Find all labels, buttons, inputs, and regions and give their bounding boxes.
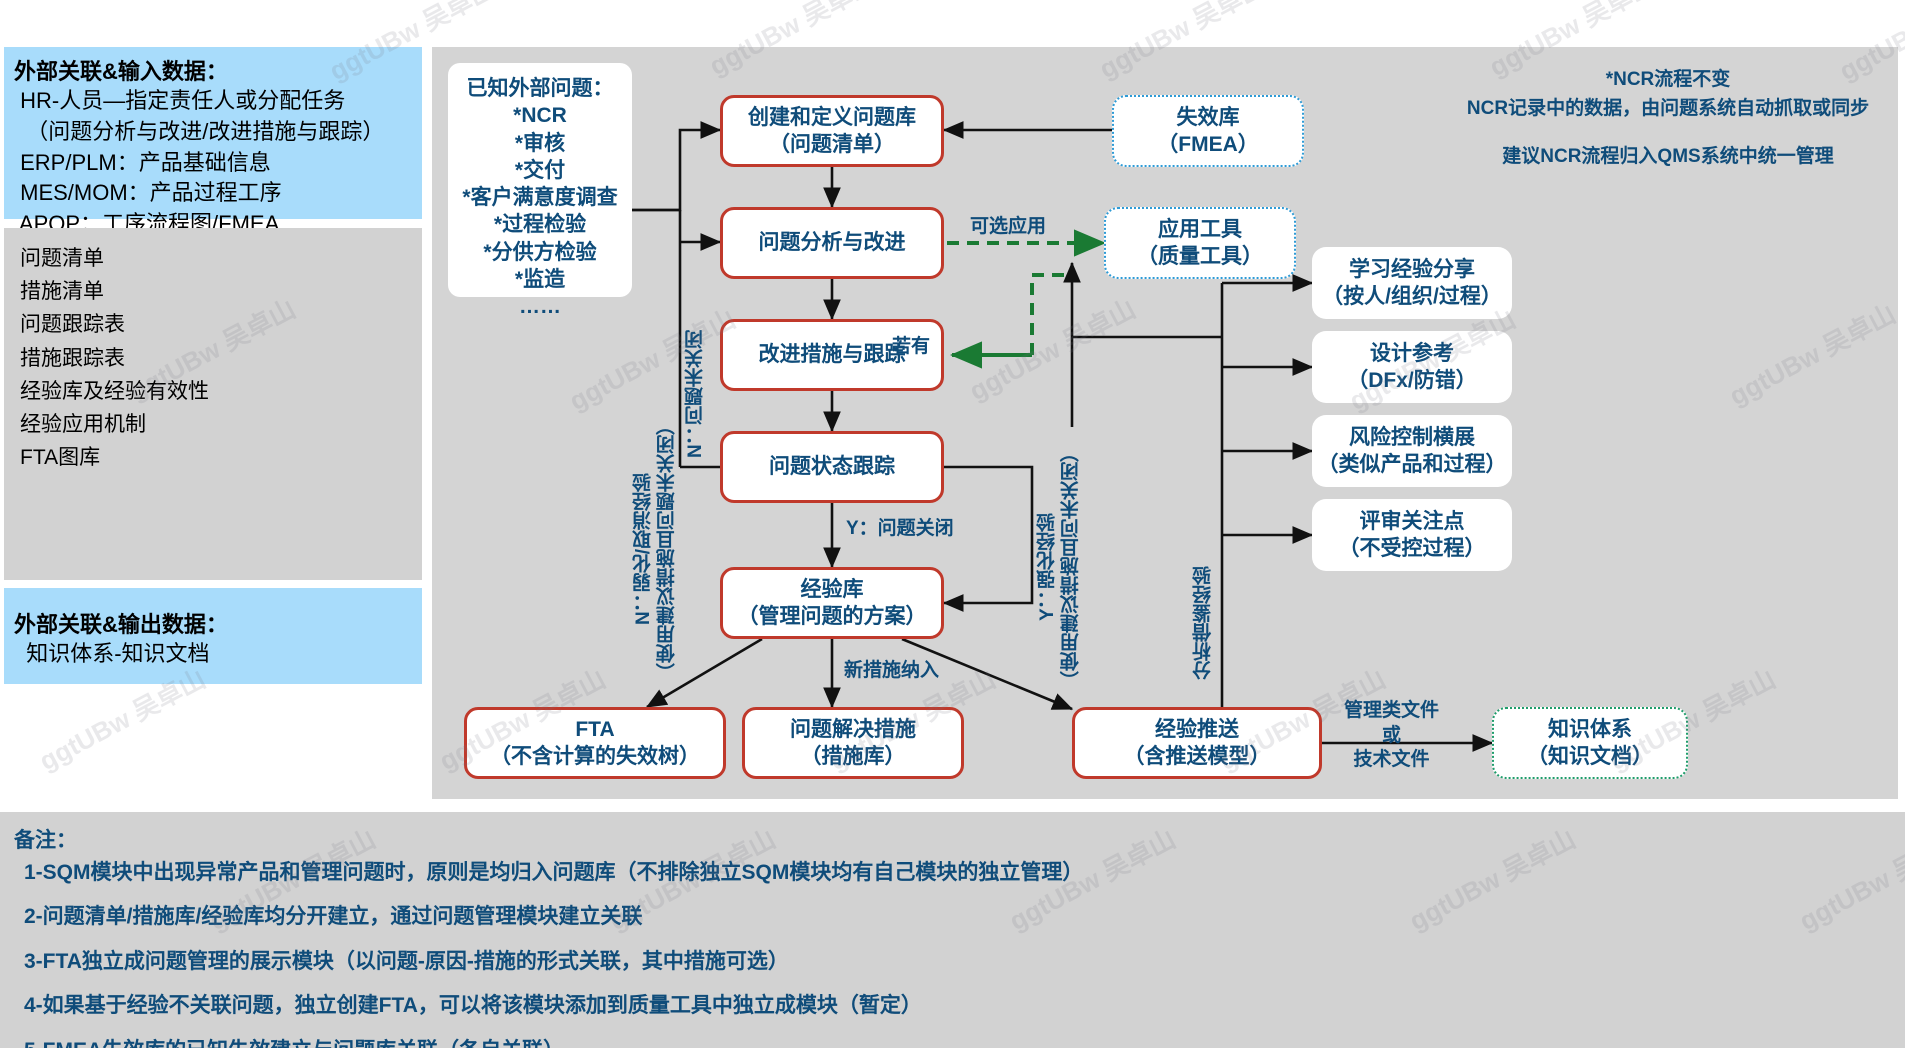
node-fmea-lib[interactable]: 失效库 （FMEA） [1112, 95, 1304, 167]
external-issue-item: *交付 [515, 157, 565, 184]
node-experience-lib[interactable]: 经验库 （管理问题的方案） [720, 567, 944, 639]
label-y-strengthen: Y：强化经验 （使用建议措施且问未关闭） [1036, 425, 1084, 709]
footer-note: 5-FMEA失效库的已知失效建立与问题库关联（各自关联） [24, 1038, 1083, 1048]
external-output-line: 知识体系-知识文档 [14, 639, 414, 670]
external-issue-item: *分供方检验 [483, 239, 596, 266]
node-line1: 设计参考 [1370, 340, 1454, 367]
node-review-focus[interactable]: 评审关注点 （不受控过程） [1312, 499, 1512, 571]
footer-note: 3-FTA独立成问题管理的展示模块（以问题-原因-措施的形式关联，其中措施可选） [24, 949, 1083, 975]
node-line1: 改进措施与跟踪 [759, 341, 906, 368]
node-line1: 经验推送 [1155, 716, 1239, 743]
external-input-panel: 外部关联&输入数据： HR-人员—指定责任人或分配任务 （问题分析与改进/改进措… [4, 47, 422, 219]
label-new-action-in: 新措施纳入 [844, 659, 939, 684]
node-line2: （FMEA） [1157, 131, 1259, 158]
list-item: 问题清单 [20, 242, 414, 275]
label-n-unclosed: N：问题未关闭 [684, 299, 708, 489]
artifacts-panel: 问题清单 措施清单 问题跟踪表 措施跟踪表 经验库及经验有效性 经验应用机制 F… [4, 228, 422, 580]
ncr-note-line: 建议NCR流程归入QMS系统中统一管理 [1448, 142, 1888, 171]
node-app-tools[interactable]: 应用工具 （质量工具） [1104, 207, 1296, 279]
external-output-panel: 外部关联&输出数据： 知识体系-知识文档 [4, 588, 422, 684]
node-line1: 创建和定义问题库 [748, 104, 916, 131]
node-line1: 经验库 [801, 576, 864, 603]
list-item: 经验库及经验有效性 [20, 375, 414, 408]
footer-note: 4-如果基于经验不关联问题，独立创建FTA，可以将该模块添加到质量工具中独立成模… [24, 993, 1083, 1019]
external-output-title: 外部关联&输出数据： [14, 610, 414, 639]
label-doc-types: 管理类文件 或 技术文件 [1344, 699, 1439, 773]
external-input-line: MES/MOM：产品过程工序 [14, 178, 414, 209]
label-n-weaken: N：弱化/取消经验 （使用建议措施且问题未关闭） [632, 415, 680, 683]
node-line1: 知识体系 [1548, 716, 1632, 743]
node-knowledge-system[interactable]: 知识体系 （知识文档） [1492, 707, 1688, 779]
list-item: 措施清单 [20, 275, 414, 308]
external-input-line: ERP/PLM：产品基础信息 [14, 148, 414, 179]
list-item: 经验应用机制 [20, 408, 414, 441]
node-experience-push[interactable]: 经验推送 （含推送模型） [1072, 707, 1322, 779]
diagram-page: 外部关联&输入数据： HR-人员—指定责任人或分配任务 （问题分析与改进/改进措… [0, 0, 1905, 1048]
external-issue-item: *监造 [515, 266, 565, 293]
external-input-title: 外部关联&输入数据： [14, 57, 414, 86]
external-issue-title: 已知外部问题： [467, 75, 614, 102]
external-issue-item: *审核 [515, 130, 565, 157]
node-line2: （不含计算的失效树） [490, 743, 700, 770]
node-line1: 失效库 [1177, 104, 1240, 131]
external-issue-item: *客户满意度调查 [462, 184, 617, 211]
label-y-closed: Y：问题关闭 [846, 517, 954, 542]
node-fta[interactable]: FTA （不含计算的失效树） [464, 707, 726, 779]
external-input-line: HR-人员—指定责任人或分配任务 [14, 86, 414, 117]
node-create-problem-lib[interactable]: 创建和定义问题库 （问题清单） [720, 95, 944, 167]
label-if-any: 若有 [892, 335, 930, 360]
node-line1: FTA [575, 716, 614, 743]
node-line1: 问题状态跟踪 [769, 453, 895, 480]
list-item: FTA图库 [20, 441, 414, 474]
footer-note: 1-SQM模块中出现异常产品和管理问题时，原则是均归入问题库（不排除独立SQM模… [24, 860, 1083, 886]
external-issue-item: …… [519, 293, 561, 320]
list-item: 措施跟踪表 [20, 342, 414, 375]
node-line2: （DFx/防错） [1347, 367, 1477, 394]
ncr-note: *NCR流程不变 NCR记录中的数据，由问题系统自动抓取或同步 建议NCR流程归… [1448, 65, 1888, 171]
footer-notes-panel: 备注： 1-SQM模块中出现异常产品和管理问题时，原则是均归入问题库（不排除独立… [0, 812, 1905, 1048]
ncr-note-line: NCR记录中的数据，由问题系统自动抓取或同步 [1448, 94, 1888, 123]
list-item: 问题跟踪表 [20, 308, 414, 341]
label-analyze-reference: 分析借鉴经验 [1192, 533, 1216, 713]
external-issue-item: *NCR [513, 102, 567, 129]
node-line1: 学习经验分享 [1349, 256, 1475, 283]
node-line2: （按人/组织/过程） [1322, 283, 1502, 310]
footer-note: 2-问题清单/措施库/经验库均分开建立，通过问题管理模块建立关联 [24, 904, 1083, 930]
node-line2: （问题清单） [769, 131, 895, 158]
external-issue-box[interactable]: 已知外部问题： *NCR *审核 *交付 *客户满意度调查 *过程检验 *分供方… [448, 63, 632, 297]
node-problem-status[interactable]: 问题状态跟踪 [720, 431, 944, 503]
external-issue-item: *过程检验 [494, 211, 586, 238]
footer-title: 备注： [14, 824, 77, 854]
node-line1: 评审关注点 [1360, 508, 1465, 535]
ncr-note-spacer [1448, 124, 1888, 142]
node-learn-share[interactable]: 学习经验分享 （按人/组织/过程） [1312, 247, 1512, 319]
ncr-note-line: *NCR流程不变 [1448, 65, 1888, 94]
node-solution-actions[interactable]: 问题解决措施 （措施库） [742, 707, 964, 779]
node-problem-analysis[interactable]: 问题分析与改进 [720, 207, 944, 279]
label-optional-apply: 可选应用 [970, 215, 1046, 240]
flow-canvas: 已知外部问题： *NCR *审核 *交付 *客户满意度调查 *过程检验 *分供方… [432, 47, 1898, 799]
node-line1: 问题分析与改进 [759, 229, 906, 256]
node-line2: （含推送模型） [1124, 743, 1271, 770]
node-design-ref[interactable]: 设计参考 （DFx/防错） [1312, 331, 1512, 403]
node-line1: 风险控制横展 [1349, 424, 1475, 451]
node-risk-control[interactable]: 风险控制横展 （类似产品和过程） [1312, 415, 1512, 487]
node-line2: （管理问题的方案） [738, 603, 927, 630]
node-line2: （措施库） [801, 743, 906, 770]
node-line1: 应用工具 [1158, 216, 1242, 243]
node-line2: （类似产品和过程） [1318, 451, 1507, 478]
node-line1: 问题解决措施 [790, 716, 916, 743]
node-line2: （知识文档） [1527, 743, 1653, 770]
node-line2: （质量工具） [1137, 243, 1263, 270]
external-input-line: （问题分析与改进/改进措施与跟踪） [14, 117, 414, 148]
node-line2: （不受控过程） [1339, 535, 1486, 562]
